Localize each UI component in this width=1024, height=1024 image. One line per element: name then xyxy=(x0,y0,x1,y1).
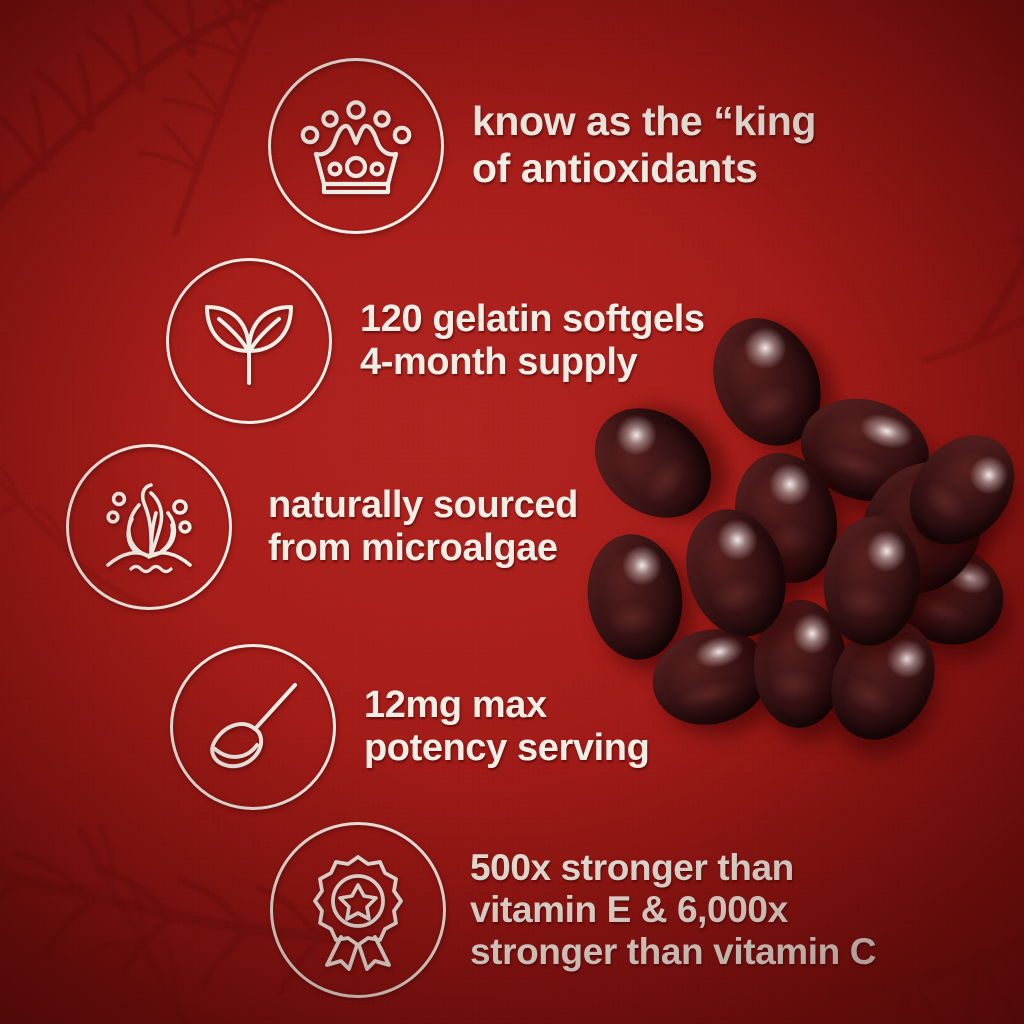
feature-row-microalgae: naturally sourced from microalgae xyxy=(66,444,578,610)
feature-row-king-of-antioxidants: know as the “king of antioxidants xyxy=(268,58,816,234)
award-ribbon-icon xyxy=(270,822,446,998)
seaweed-algae-icon xyxy=(66,444,232,610)
crown-icon xyxy=(268,58,444,234)
feature-row-stronger-than-vitamins: 500x stronger than vitamin E & 6,000x st… xyxy=(270,822,876,998)
feature-text-softgels-supply: 120 gelatin softgels 4-month supply xyxy=(360,298,705,385)
product-feature-graphic: know as the “king of antioxidants 120 ge… xyxy=(0,0,1024,1024)
feature-row-softgels-supply: 120 gelatin softgels 4-month supply xyxy=(166,258,705,424)
feature-text-potency: 12mg max potency serving xyxy=(364,684,649,771)
feature-row-potency: 12mg max potency serving xyxy=(170,644,649,810)
spoon-icon xyxy=(170,644,336,810)
feature-text-microalgae: naturally sourced from microalgae xyxy=(268,484,578,571)
feature-text-king-of-antioxidants: know as the “king of antioxidants xyxy=(472,98,816,191)
feature-list: know as the “king of antioxidants 120 ge… xyxy=(0,0,1024,1024)
sprout-leaf-icon xyxy=(166,258,332,424)
feature-text-stronger-than-vitamins: 500x stronger than vitamin E & 6,000x st… xyxy=(470,847,876,974)
